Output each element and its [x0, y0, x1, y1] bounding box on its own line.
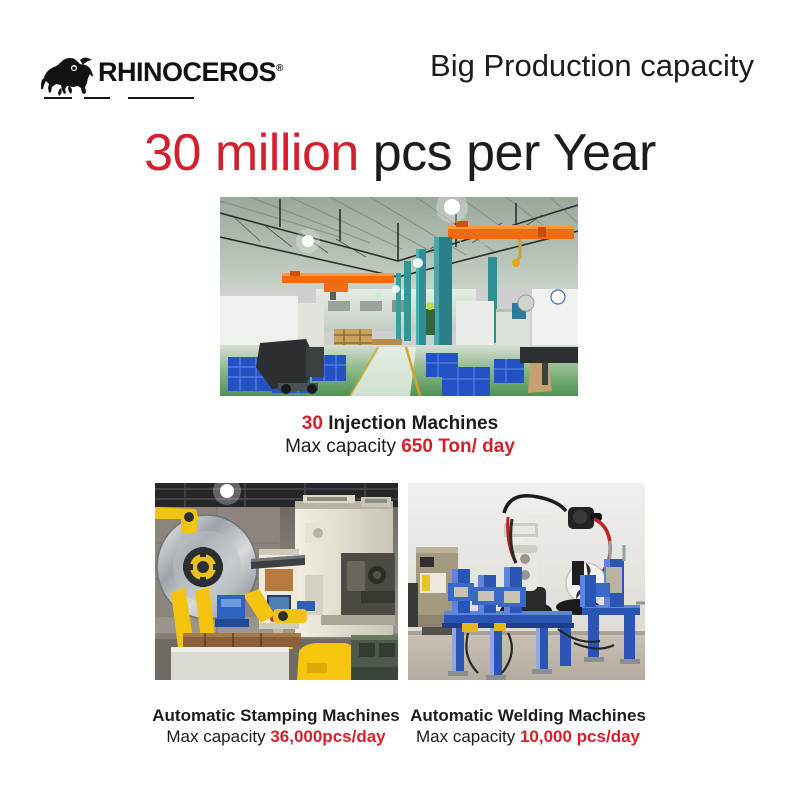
- capacity-headline-rest: pcs per Year: [359, 124, 656, 182]
- injection-count: 30: [302, 413, 323, 434]
- injection-title: Injection Machines: [323, 413, 498, 434]
- capacity-headline: 30 million pcs per Year: [0, 127, 800, 180]
- rhino-icon: [38, 52, 100, 100]
- registered-trademark-icon: ®: [276, 63, 283, 74]
- welding-capacity-value: 10,000 pcs/day: [520, 727, 640, 746]
- welding-title: Automatic Welding Machines: [390, 706, 666, 727]
- logo-underline-rules: [44, 96, 194, 101]
- injection-capacity-value: 650 Ton/ day: [401, 436, 515, 457]
- stamping-capacity-value: 36,000pcs/day: [270, 727, 385, 746]
- brand-wordmark-text: RHINOCEROS: [98, 57, 276, 87]
- poster-canvas: RHINOCEROS® Big Production capacity 30 m…: [0, 0, 800, 800]
- injection-capacity-label: Max capacity: [285, 436, 401, 457]
- injection-caption-line2: Max capacity 650 Ton/ day: [200, 435, 600, 458]
- injection-caption-line1: 30 Injection Machines: [200, 412, 600, 435]
- stamping-machine-photo: [155, 483, 398, 680]
- stamping-caption-line2: Max capacity 36,000pcs/day: [138, 727, 414, 748]
- welding-caption-line2: Max capacity 10,000 pcs/day: [390, 727, 666, 748]
- injection-caption: 30 Injection Machines Max capacity 650 T…: [200, 412, 600, 458]
- welding-robot-photo: [408, 483, 645, 680]
- poster-header: RHINOCEROS® Big Production capacity: [0, 48, 800, 106]
- stamping-caption: Automatic Stamping Machines Max capacity…: [138, 706, 414, 747]
- welding-capacity-label: Max capacity: [416, 727, 520, 746]
- brand-wordmark: RHINOCEROS®: [98, 59, 283, 86]
- page-title: Big Production capacity: [430, 48, 754, 84]
- brand-logo: RHINOCEROS®: [38, 52, 238, 106]
- welding-caption: Automatic Welding Machines Max capacity …: [390, 706, 666, 747]
- injection-workshop-photo: [220, 197, 578, 396]
- capacity-headline-accent: 30 million: [144, 124, 359, 182]
- stamping-title: Automatic Stamping Machines: [138, 706, 414, 727]
- stamping-capacity-label: Max capacity: [166, 727, 270, 746]
